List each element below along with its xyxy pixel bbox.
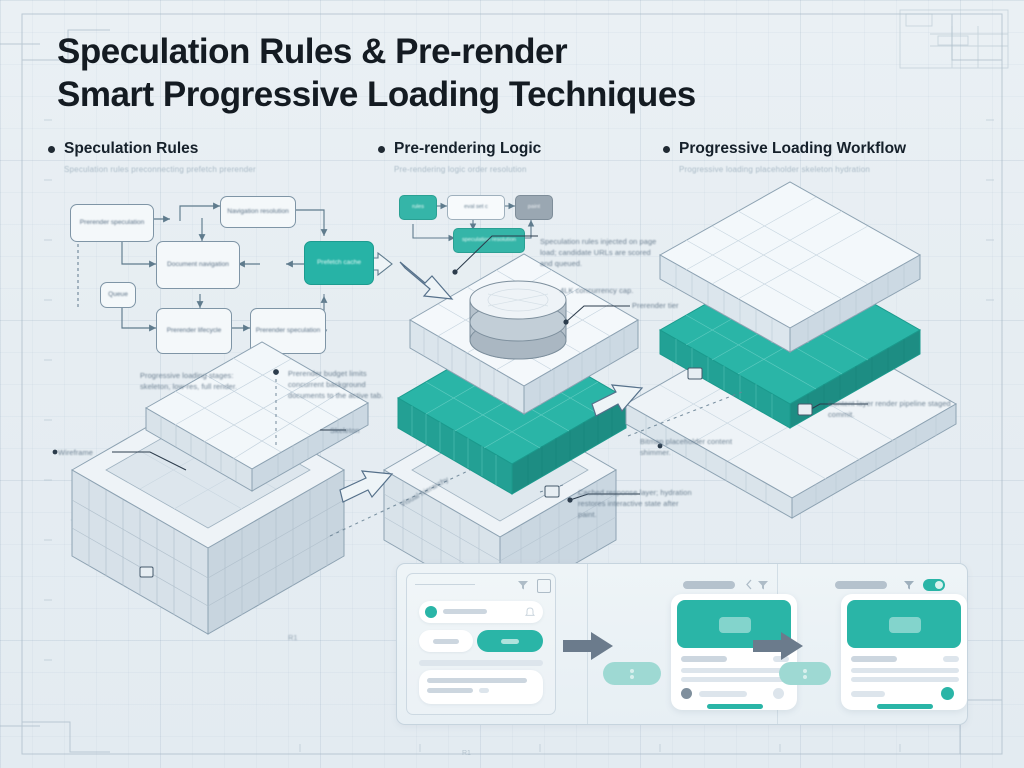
wireframe-column-fullrender[interactable]	[777, 564, 967, 724]
avatar-row[interactable]	[419, 601, 543, 623]
funnel-icon[interactable]	[517, 579, 529, 591]
button-label-bar	[433, 639, 459, 644]
chip-dot	[803, 669, 807, 673]
chip-dot	[803, 675, 807, 679]
chevron-icon[interactable]	[745, 579, 754, 590]
annotation-text: Content layer render pipeline staged com…	[828, 398, 958, 420]
text-line	[681, 668, 789, 673]
text-line	[427, 688, 473, 693]
funnel-icon[interactable]	[903, 579, 915, 591]
annotation-text: Cached response layer; hydration restore…	[578, 487, 698, 520]
checkbox-icon[interactable]	[537, 579, 551, 593]
hero-image	[847, 600, 961, 648]
bell-icon[interactable]	[525, 607, 535, 618]
cta-bar[interactable]	[707, 704, 763, 709]
primary-button[interactable]	[477, 630, 543, 652]
cta-bar[interactable]	[877, 704, 933, 709]
text-line	[427, 678, 527, 683]
content-card[interactable]	[841, 594, 967, 710]
side-chip[interactable]	[779, 662, 831, 685]
avatar	[681, 688, 692, 699]
text-line	[851, 668, 959, 673]
text-line	[943, 656, 959, 662]
text-line	[851, 691, 885, 697]
avatar	[425, 606, 437, 618]
annotation-skeleton-label: Skeleton	[330, 425, 388, 436]
annotation-text: Bitmap placeholder content shimmer.	[640, 436, 750, 458]
annotation-text: 4LK concurrency cap.	[560, 285, 670, 296]
toggle-icon[interactable]	[923, 579, 945, 591]
annotation-text: Progressive loading stages: skeleton, lo…	[140, 370, 248, 392]
annotation-text: Prerender tier	[632, 300, 722, 311]
chip-dot	[630, 675, 634, 679]
topbar-pill	[683, 581, 735, 589]
progressive-loading-wireframe-panel[interactable]	[396, 563, 968, 725]
hero-placeholder-chip	[889, 617, 921, 633]
side-chip[interactable]	[603, 662, 661, 685]
text-line	[681, 677, 789, 682]
text-line	[419, 660, 543, 666]
hero-placeholder-chip	[719, 617, 751, 633]
topbar-pill	[835, 581, 887, 589]
canvas: R1 Speculation Rules & Pre-render Smart …	[0, 0, 1024, 768]
text-line	[681, 656, 727, 662]
chip-dot	[630, 669, 634, 673]
wireframe-column-lowres[interactable]	[587, 564, 777, 724]
text-line	[851, 656, 897, 662]
wireframe-column-skeleton[interactable]	[397, 564, 587, 724]
annotation-code: R1	[288, 632, 312, 643]
text-line	[699, 691, 747, 697]
text-line	[851, 677, 959, 682]
annotation-wireframe-label: Wireframe	[58, 447, 128, 458]
text-block	[419, 670, 543, 704]
secondary-button[interactable]	[419, 630, 473, 652]
text-line	[479, 688, 489, 693]
database-cylinder-icon	[470, 281, 566, 359]
funnel-icon[interactable]	[757, 579, 769, 591]
button-label-bar	[501, 639, 519, 644]
topbar-line	[415, 584, 475, 585]
status-dot	[941, 687, 954, 700]
annotation-text: Speculation rules injected on page load;…	[540, 236, 665, 269]
annotation-text: Prerender budget limits concurrent backg…	[288, 368, 398, 401]
toggle-knob	[935, 581, 943, 589]
name-bar	[443, 609, 487, 614]
